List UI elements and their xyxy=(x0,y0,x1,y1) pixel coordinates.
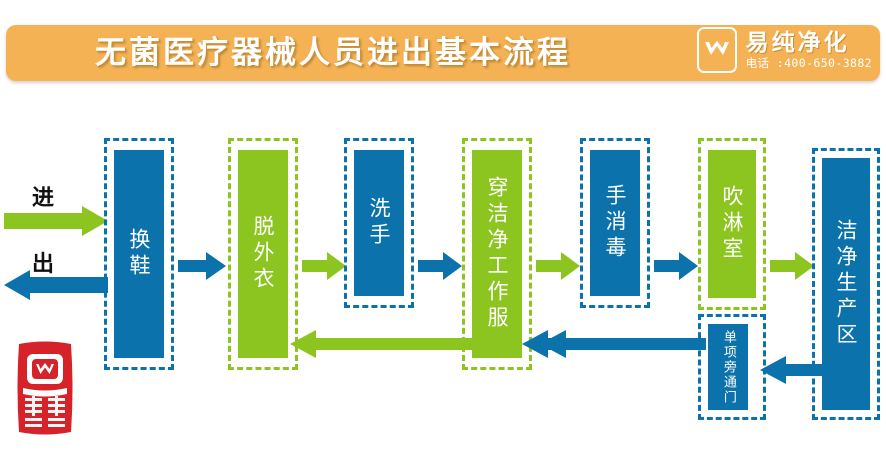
enter-arrow xyxy=(4,206,108,236)
step-label-change-shoes: 换鞋 xyxy=(128,228,150,280)
connector-remove-outerwear-to-wash-hands xyxy=(302,252,346,280)
step-box-one-way-bypass-door[interactable]: 单项旁通门 xyxy=(708,324,748,410)
step-box-wash-hands[interactable]: 洗手 xyxy=(354,150,404,296)
step-label-hand-disinfect: 手消毒 xyxy=(604,184,626,262)
connector-hand-disinfect-to-air-shower-room xyxy=(654,252,698,280)
step-box-remove-outerwear[interactable]: 脱外衣 xyxy=(238,150,288,358)
connector-clean-production-to-one-way-bypass-door xyxy=(760,356,822,384)
connector-change-shoes-to-remove-outerwear xyxy=(178,252,226,280)
step-box-air-shower-room[interactable]: 吹淋室 xyxy=(708,150,756,298)
connector-hand-disinfect-to-wear-cleanroom-suit xyxy=(522,330,652,358)
exit-arrow xyxy=(4,270,108,300)
connector-wear-cleanroom-suit-to-hand-disinfect xyxy=(536,252,580,280)
step-label-wash-hands: 洗手 xyxy=(368,197,390,249)
brand-name: 易纯净化 xyxy=(746,31,872,56)
step-box-wear-cleanroom-suit[interactable]: 穿洁净工作服 xyxy=(472,150,522,358)
step-label-one-way-bypass-door: 单项旁通门 xyxy=(721,330,735,405)
step-box-hand-disinfect[interactable]: 手消毒 xyxy=(590,150,640,296)
step-label-air-shower-room: 吹淋室 xyxy=(721,185,743,263)
flowchart-canvas: 无菌医疗器械人员进出基本流程 易纯净化 电话 :400-650-3882 进 出… xyxy=(0,0,886,458)
connector-wash-hands-to-wear-cleanroom-suit xyxy=(418,252,462,280)
brand-phone: 电话 :400-650-3882 xyxy=(746,56,872,70)
brand-logo: 易纯净化 电话 :400-650-3882 xyxy=(697,27,872,73)
step-label-wear-cleanroom-suit: 穿洁净工作服 xyxy=(486,176,508,332)
step-label-remove-outerwear: 脱外衣 xyxy=(252,215,274,293)
step-label-clean-production: 洁净生产区 xyxy=(835,219,857,349)
connector-wear-cleanroom-suit-to-remove-outerwear xyxy=(290,330,478,358)
w-mark-icon xyxy=(697,27,737,73)
seal-watermark xyxy=(14,336,76,440)
step-box-clean-production[interactable]: 洁净生产区 xyxy=(822,158,870,410)
connector-air-shower-room-to-clean-production xyxy=(770,252,814,280)
page-title: 无菌医疗器械人员进出基本流程 xyxy=(95,27,571,72)
step-box-change-shoes[interactable]: 换鞋 xyxy=(114,150,164,358)
